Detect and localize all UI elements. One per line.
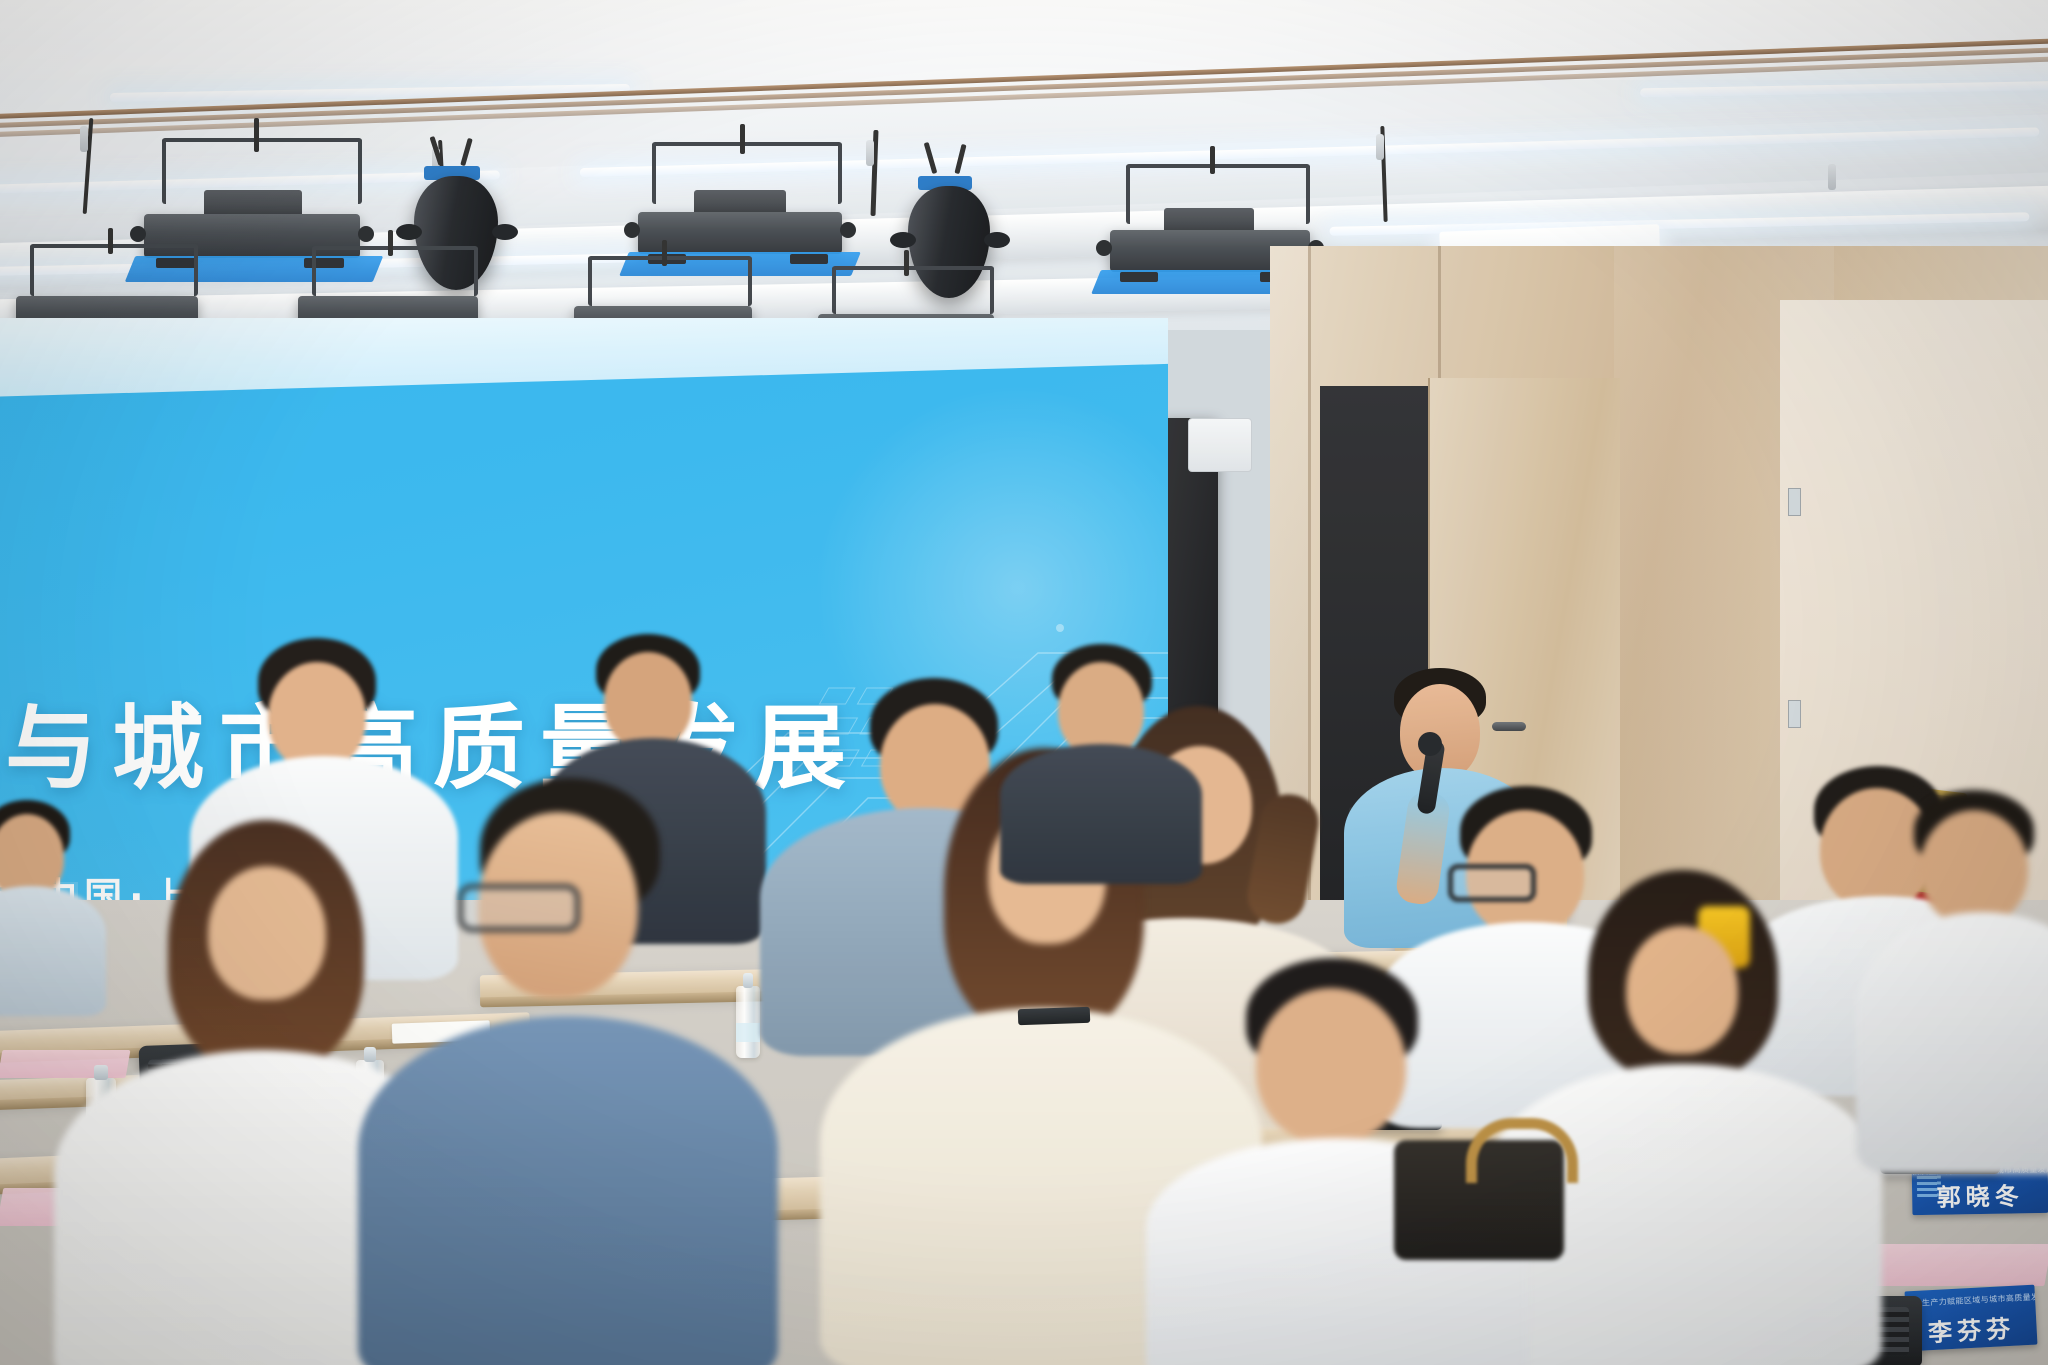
- audience-member-foreground: [1530, 870, 1830, 1365]
- audience-member: [1010, 644, 1190, 874]
- name-plate: 新质生产力赋能区域与城市高质量发展 李芬芬: [1905, 1285, 2038, 1352]
- water-bottle: [736, 986, 760, 1058]
- door-hinge-icon: [1788, 488, 1801, 516]
- door-hinge-icon: [1788, 700, 1801, 728]
- audience-member: [0, 800, 86, 1000]
- audience-member-foreground: [400, 778, 730, 1365]
- smartphone[interactable]: [1018, 1007, 1091, 1026]
- conference-photo: 域与城市高质量发展 15 中国·上海 支持单位 海市城市更新研究会 上海 云集商…: [0, 0, 2048, 1365]
- audience-member: [1880, 790, 2048, 1170]
- handbag-strap: [1466, 1118, 1578, 1183]
- glasses-icon: [458, 884, 580, 932]
- glasses-icon: [1448, 864, 1536, 902]
- wall-speaker-icon: [1188, 418, 1252, 472]
